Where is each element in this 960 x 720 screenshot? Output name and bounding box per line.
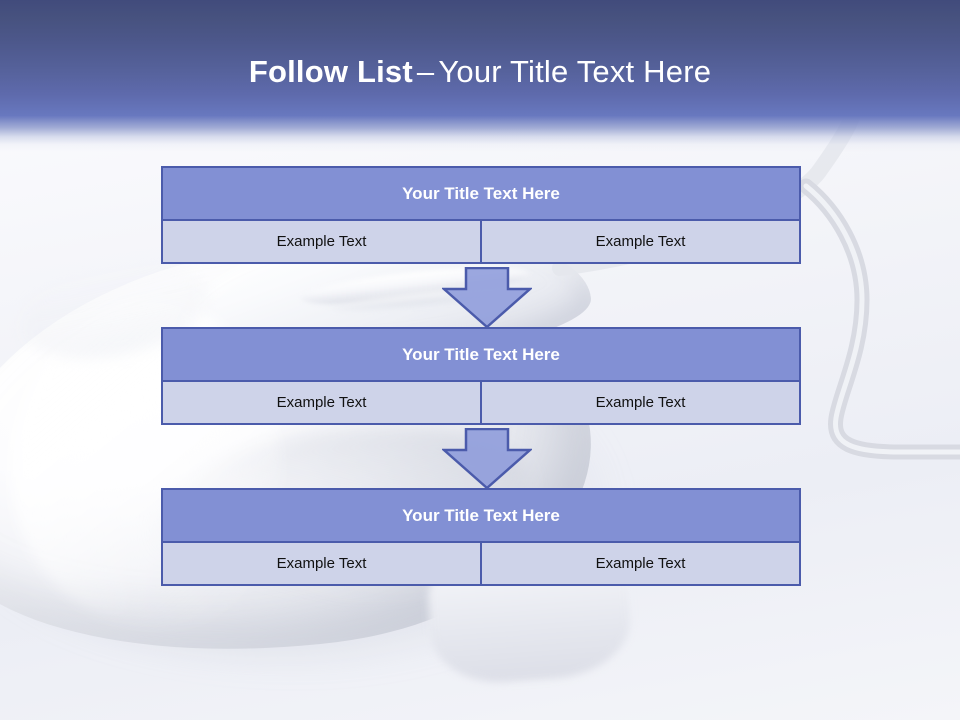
page-title: Follow List–Your Title Text Here <box>0 52 960 92</box>
group-1-header[interactable]: Your Title Text Here <box>161 166 801 221</box>
group-2-header[interactable]: Your Title Text Here <box>161 327 801 382</box>
page-title-dash: – <box>413 54 438 89</box>
group-3-row: Example Text Example Text <box>161 541 801 586</box>
arrow-down-icon-2 <box>442 428 532 490</box>
slide: Follow List–Your Title Text Here Your Ti… <box>0 0 960 720</box>
follow-list-group-3[interactable]: Your Title Text Here Example Text Exampl… <box>161 488 801 586</box>
group-3-header[interactable]: Your Title Text Here <box>161 488 801 543</box>
group-2-row: Example Text Example Text <box>161 380 801 425</box>
follow-list-group-2[interactable]: Your Title Text Here Example Text Exampl… <box>161 327 801 425</box>
page-title-bold: Follow List <box>249 54 413 89</box>
group-1-row: Example Text Example Text <box>161 219 801 264</box>
group-1-cell-2[interactable]: Example Text <box>480 219 801 264</box>
group-3-cell-1[interactable]: Example Text <box>161 541 482 586</box>
arrow-down-icon-1 <box>442 267 532 329</box>
group-1-cell-1[interactable]: Example Text <box>161 219 482 264</box>
group-2-cell-2[interactable]: Example Text <box>480 380 801 425</box>
group-2-cell-1[interactable]: Example Text <box>161 380 482 425</box>
page-title-rest: Your Title Text Here <box>438 54 711 89</box>
follow-list-group-1[interactable]: Your Title Text Here Example Text Exampl… <box>161 166 801 264</box>
group-3-cell-2[interactable]: Example Text <box>480 541 801 586</box>
